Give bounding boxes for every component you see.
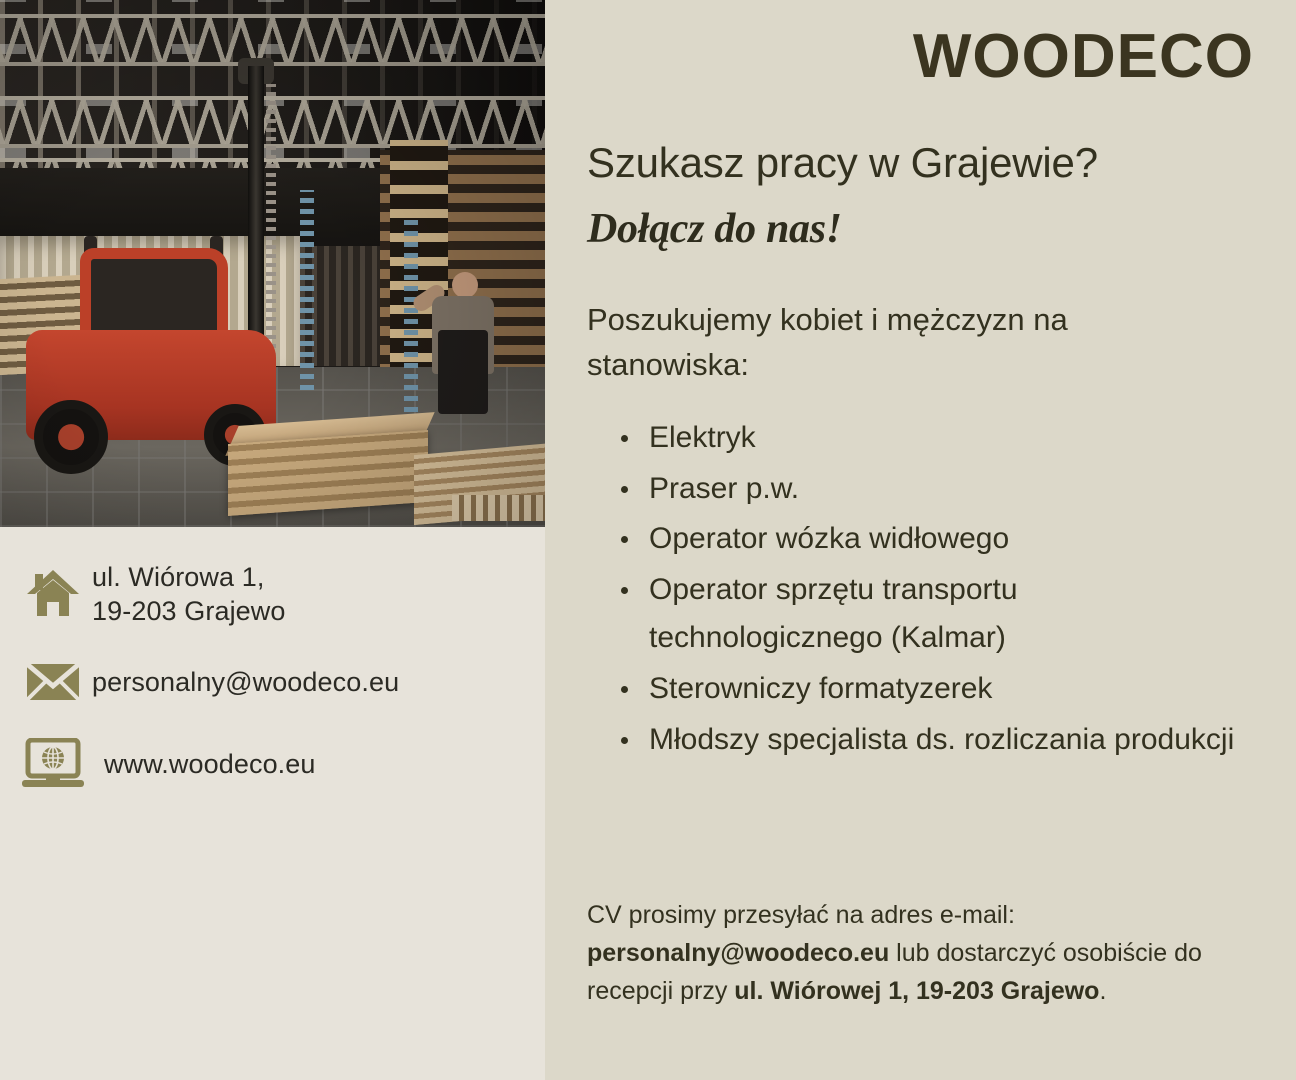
- list-item: Młodszy specjalista ds. rozliczania prod…: [615, 716, 1255, 765]
- subheading: Poszukujemy kobiet i mężczyzn na stanowi…: [587, 298, 1147, 387]
- cv-note-address: ul. Wiórowej 1, 19-203 Grajewo: [734, 977, 1099, 1005]
- cv-note-part-1: CV prosimy przesyłać na adres e-mail:: [587, 901, 1015, 929]
- address-line-1: ul. Wiórowa 1,: [92, 562, 264, 592]
- photo-forklift-wheel-front: [34, 400, 108, 474]
- photo-truss-upper: [0, 14, 545, 66]
- job-positions-list: Elektryk Praser p.w. Operator wózka widł…: [587, 414, 1255, 766]
- headline-question: Szukasz pracy w Grajewie?: [587, 138, 1098, 188]
- headline-call-to-action: Dołącz do nas!: [587, 205, 842, 253]
- right-panel: WOODECO Szukasz pracy w Grajewie? Dołącz…: [545, 0, 1296, 1080]
- photo-worker-head: [452, 272, 478, 298]
- contact-row-website[interactable]: www.woodeco.eu: [0, 738, 545, 790]
- photo-panel-stack: [228, 430, 428, 516]
- cv-note-part-3: .: [1099, 977, 1106, 1005]
- contact-row-address: ul. Wiórowa 1, 19-203 Grajewo: [0, 560, 545, 628]
- photo-worker-apron: [438, 330, 488, 414]
- home-icon: [14, 568, 92, 620]
- warehouse-photo: [0, 0, 545, 527]
- list-item: Praser p.w.: [615, 465, 1255, 514]
- address-line-2: 19-203 Grajewo: [92, 596, 286, 626]
- list-item: Operator sprzętu transportu technologicz…: [615, 566, 1255, 663]
- contact-email-text: personalny@woodeco.eu: [92, 665, 399, 699]
- contact-row-email[interactable]: personalny@woodeco.eu: [0, 660, 545, 704]
- list-item: Sterowniczy formatyzerek: [615, 665, 1255, 714]
- cv-note-email: personalny@woodeco.eu: [587, 939, 889, 967]
- photo-spring-hose-2: [404, 214, 418, 434]
- contact-website-text: www.woodeco.eu: [92, 747, 316, 781]
- job-advert-poster: ul. Wiórowa 1, 19-203 Grajewo personalny…: [0, 0, 1296, 1080]
- contact-block: ul. Wiórowa 1, 19-203 Grajewo personalny…: [0, 560, 545, 824]
- envelope-icon: [14, 660, 92, 704]
- left-panel: ul. Wiórowa 1, 19-203 Grajewo personalny…: [0, 0, 545, 1080]
- contact-address-text: ul. Wiórowa 1, 19-203 Grajewo: [92, 560, 286, 628]
- list-item: Operator wózka widłowego: [615, 515, 1255, 564]
- laptop-globe-icon: [14, 738, 92, 790]
- company-logo: WOODECO: [913, 26, 1254, 88]
- application-instructions: CV prosimy przesyłać na adres e-mail: pe…: [587, 896, 1247, 1010]
- list-item: Elektryk: [615, 414, 1255, 463]
- photo-spring-hose-1: [300, 190, 314, 390]
- photo-boards-edge: [452, 495, 545, 521]
